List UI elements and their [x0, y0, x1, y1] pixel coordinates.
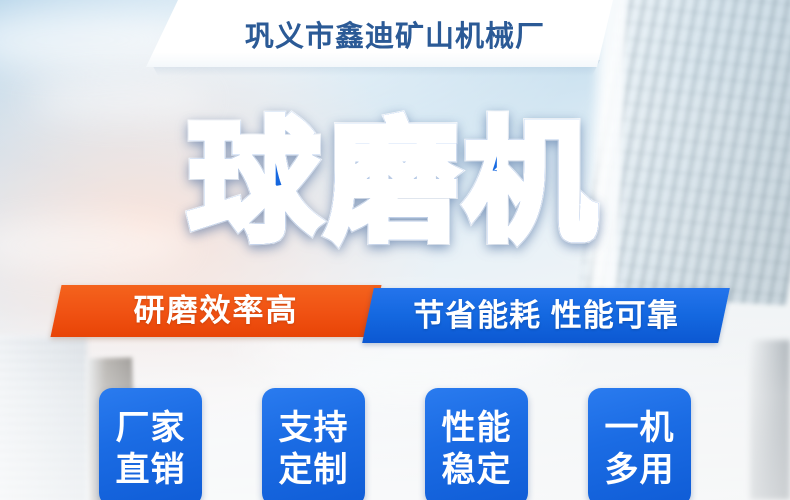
badge-line-1: 厂家 — [116, 407, 186, 449]
badge-line-2: 直销 — [116, 449, 186, 491]
badge-line-1: 一机 — [605, 407, 675, 449]
badge-line-1: 性能 — [442, 407, 512, 449]
badge-line-2: 定制 — [279, 449, 349, 491]
company-name: 巩义市鑫迪矿山机械厂 — [0, 13, 790, 55]
feature-badge-multipurpose: 一机 多用 — [588, 388, 691, 500]
feature-badge-factory-direct: 厂家 直销 — [99, 388, 202, 500]
tagline-blue-label: 节省能耗 性能可靠 — [368, 288, 724, 343]
promo-banner: 巩义市鑫迪矿山机械厂 球磨机 球磨机 研磨效率高 节省能耗 性能可靠 厂家 直销… — [0, 0, 790, 500]
feature-badge-stable-performance: 性能 稳定 — [425, 388, 528, 500]
product-title: 球磨机 — [0, 108, 790, 258]
badge-line-2: 多用 — [605, 449, 675, 491]
badge-line-1: 支持 — [279, 407, 349, 449]
tagline-orange-label: 研磨效率高 — [56, 285, 376, 337]
feature-badge-row: 厂家 直销 支持 定制 性能 稳定 一机 多用 — [99, 388, 691, 500]
feature-badge-customization: 支持 定制 — [262, 388, 365, 500]
badge-line-2: 稳定 — [442, 449, 512, 491]
